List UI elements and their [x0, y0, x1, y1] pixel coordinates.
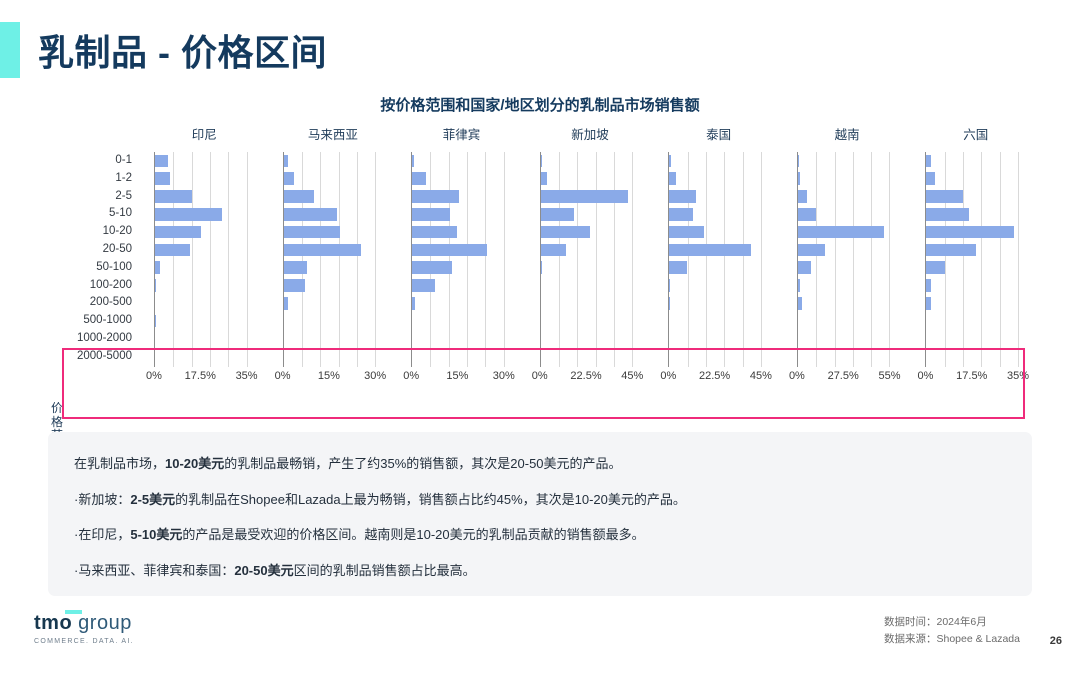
bar	[669, 279, 670, 292]
bar-row	[155, 152, 247, 170]
x-axis-ticks: 0%17.5%35%	[925, 370, 1018, 386]
x-tick-label: 22.5%	[570, 370, 601, 382]
bar	[412, 261, 452, 274]
panel-plot	[797, 152, 890, 367]
page-title: 乳制品 - 价格区间	[38, 24, 327, 76]
category-label: 50-100	[62, 259, 138, 277]
tmo-group-logo: tmogroup COMMERCE. DATA. AI.	[34, 612, 134, 645]
bar	[284, 208, 337, 221]
bar	[284, 244, 362, 257]
category-label: 2-5	[62, 188, 138, 206]
bar-row	[412, 294, 504, 312]
bar	[669, 244, 750, 257]
bar-row	[541, 223, 633, 241]
bar-row	[541, 259, 633, 277]
bar-row	[926, 188, 1018, 206]
x-tick-label: 30%	[364, 370, 386, 382]
bar	[155, 315, 156, 328]
x-tick-label: 0%	[918, 370, 934, 382]
bar	[284, 190, 315, 203]
bar-row	[412, 259, 504, 277]
bar-row	[926, 348, 1018, 366]
bar-row	[412, 312, 504, 330]
panel-title-1: 马来西亚	[269, 124, 398, 143]
category-label: 10-20	[62, 223, 138, 241]
bar-row	[284, 312, 376, 330]
bar-row	[541, 277, 633, 295]
bar-row	[798, 205, 890, 223]
x-tick-label: 0%	[532, 370, 548, 382]
bar-row	[155, 312, 247, 330]
bar	[412, 208, 450, 221]
bar	[669, 208, 692, 221]
bar	[926, 208, 969, 221]
bar-row	[541, 294, 633, 312]
bar-row	[669, 348, 761, 366]
panel-六国: 0%17.5%35%	[911, 152, 1040, 367]
x-axis-ticks: 0%15%30%	[283, 370, 376, 386]
category-label: 1000-2000	[62, 330, 138, 348]
bar	[412, 226, 457, 239]
bar	[669, 261, 686, 274]
bar-row	[284, 259, 376, 277]
bar-row	[669, 312, 761, 330]
gridline	[889, 152, 890, 367]
bar	[541, 244, 566, 257]
x-tick-label: 0%	[660, 370, 676, 382]
bar-row	[155, 348, 247, 366]
bar-row	[798, 330, 890, 348]
bar-row	[284, 277, 376, 295]
bar	[155, 261, 160, 274]
bar-row	[926, 330, 1018, 348]
bar-row	[155, 277, 247, 295]
bar	[412, 244, 486, 257]
bar-row	[669, 330, 761, 348]
bar	[669, 226, 704, 239]
bar	[926, 226, 1014, 239]
x-tick-label: 15%	[318, 370, 340, 382]
bar-row	[541, 205, 633, 223]
bar-row	[155, 170, 247, 188]
bar	[541, 261, 542, 274]
footer-meta: 数据时间：2024年6月 数据来源：Shopee & Lazada	[884, 614, 1020, 648]
bar-row	[541, 330, 633, 348]
bar-row	[155, 330, 247, 348]
bar-row	[284, 152, 376, 170]
x-tick-label: 22.5%	[699, 370, 730, 382]
bar-row	[284, 170, 376, 188]
bar-row	[284, 188, 376, 206]
panel-plot	[925, 152, 1018, 367]
bar-row	[669, 205, 761, 223]
bar-row	[541, 152, 633, 170]
bar-row	[155, 188, 247, 206]
bar	[155, 279, 156, 292]
x-tick-label: 27.5%	[828, 370, 859, 382]
data-source: 数据来源：Shopee & Lazada	[884, 631, 1020, 648]
bar	[798, 261, 811, 274]
bar-row	[669, 152, 761, 170]
panel-title-0: 印尼	[140, 124, 269, 143]
bar-row	[926, 152, 1018, 170]
bar-row	[284, 205, 376, 223]
x-tick-label: 17.5%	[185, 370, 216, 382]
bar	[669, 155, 670, 168]
gridline	[504, 152, 505, 367]
bar	[284, 297, 289, 310]
panel-plot	[411, 152, 504, 367]
bar-row	[284, 348, 376, 366]
x-tick-label: 45%	[750, 370, 772, 382]
logo-tmo: tmo	[34, 612, 72, 634]
bar-row	[926, 294, 1018, 312]
panel-越南: 0%27.5%55%	[783, 152, 912, 367]
bar	[669, 297, 670, 310]
gridline	[247, 152, 248, 367]
bar	[798, 190, 807, 203]
bar	[412, 155, 414, 168]
bar-row	[412, 223, 504, 241]
accent-bar	[0, 22, 20, 78]
bar-row	[669, 259, 761, 277]
bar-row	[926, 241, 1018, 259]
category-label: 5-10	[62, 205, 138, 223]
bar-row	[412, 241, 504, 259]
bar	[926, 279, 931, 292]
bar	[926, 155, 930, 168]
bar	[798, 172, 800, 185]
panel-新加坡: 0%22.5%45%	[526, 152, 655, 367]
bar-row	[669, 294, 761, 312]
panel-plot	[154, 152, 247, 367]
bar-row	[284, 223, 376, 241]
bar-row	[798, 277, 890, 295]
bar	[284, 155, 289, 168]
bar	[412, 190, 459, 203]
gridline	[632, 152, 633, 367]
bar	[412, 279, 435, 292]
x-axis-ticks: 0%22.5%45%	[540, 370, 633, 386]
bar	[155, 155, 168, 168]
bar-row	[412, 277, 504, 295]
bar-row	[412, 152, 504, 170]
bar-row	[669, 277, 761, 295]
bar	[669, 190, 695, 203]
notes-panel: 在乳制品市场，10-20美元的乳制品最畅销，产生了约35%的销售额，其次是20-…	[48, 432, 1032, 596]
bar-row	[541, 170, 633, 188]
logo-group: group	[78, 612, 132, 634]
note-line-0: 在乳制品市场，10-20美元的乳制品最畅销，产生了约35%的销售额，其次是20-…	[74, 454, 1006, 473]
gridline	[1018, 152, 1019, 367]
bar-row	[669, 223, 761, 241]
bar-row	[412, 330, 504, 348]
gridline	[761, 152, 762, 367]
bar	[798, 297, 802, 310]
bar	[155, 172, 170, 185]
bar-row	[412, 188, 504, 206]
note-line-1: ·新加坡：2-5美元的乳制品在Shopee和Lazada上最为畅销，销售额占比约…	[74, 490, 1006, 509]
category-label: 100-200	[62, 277, 138, 295]
bar	[541, 155, 542, 168]
bar	[798, 226, 884, 239]
panel-plot	[283, 152, 376, 367]
bar-row	[669, 188, 761, 206]
x-tick-label: 0%	[789, 370, 805, 382]
bar-row	[798, 152, 890, 170]
logo-accent-bar	[65, 610, 82, 614]
bar	[284, 261, 307, 274]
bar-row	[926, 259, 1018, 277]
panel-泰国: 0%22.5%45%	[654, 152, 783, 367]
bar	[541, 190, 629, 203]
data-time: 数据时间：2024年6月	[884, 614, 1020, 631]
note-line-2: ·在印尼，5-10美元的产品是最受欢迎的价格区间。越南则是10-20美元的乳制品…	[74, 525, 1006, 544]
x-tick-label: 35%	[236, 370, 258, 382]
panel-plot	[668, 152, 761, 367]
bar	[798, 244, 825, 257]
bar-row	[284, 241, 376, 259]
bar	[798, 208, 816, 221]
bar-row	[798, 241, 890, 259]
x-tick-label: 15%	[446, 370, 468, 382]
bar-row	[155, 205, 247, 223]
panel-title-4: 泰国	[654, 124, 783, 143]
page-footer: tmogroup COMMERCE. DATA. AI. 数据时间：2024年6…	[0, 604, 1080, 674]
bar	[155, 208, 222, 221]
bar	[669, 172, 676, 185]
panel-菲律宾: 0%15%30%	[397, 152, 526, 367]
x-tick-label: 55%	[878, 370, 900, 382]
panel-印尼: 0%17.5%35%	[140, 152, 269, 367]
page-header: 乳制品 - 价格区间	[0, 22, 327, 78]
bar-row	[926, 205, 1018, 223]
chart-area: 按价格范围和国家/地区划分的乳制品市场销售额 印尼马来西亚菲律宾新加坡泰国越南六…	[0, 92, 1080, 422]
x-tick-label: 45%	[621, 370, 643, 382]
bar	[926, 190, 963, 203]
bar-row	[541, 188, 633, 206]
bar	[926, 244, 976, 257]
bar-row	[284, 294, 376, 312]
category-label: 1-2	[62, 170, 138, 188]
x-axis-ticks: 0%17.5%35%	[154, 370, 247, 386]
bar	[926, 261, 945, 274]
bar-row	[669, 170, 761, 188]
panel-plot	[540, 152, 633, 367]
bar	[541, 226, 590, 239]
bar-row	[284, 330, 376, 348]
bar	[412, 297, 415, 310]
x-tick-label: 0%	[403, 370, 419, 382]
bar-row	[412, 348, 504, 366]
x-axis-ticks: 0%27.5%55%	[797, 370, 890, 386]
bar-row	[541, 241, 633, 259]
bar-row	[798, 223, 890, 241]
panel-title-2: 菲律宾	[397, 124, 526, 143]
bar-row	[155, 241, 247, 259]
bar	[412, 172, 426, 185]
category-label: 200-500	[62, 294, 138, 312]
bar-row	[541, 348, 633, 366]
bar-row	[155, 259, 247, 277]
bar-row	[155, 223, 247, 241]
bar	[541, 208, 575, 221]
category-label: 2000-5000	[62, 348, 138, 366]
bar	[284, 279, 305, 292]
bar-row	[926, 170, 1018, 188]
bar	[926, 297, 931, 310]
bar	[155, 226, 201, 239]
logo-tagline: COMMERCE. DATA. AI.	[34, 638, 134, 645]
x-tick-label: 0%	[146, 370, 162, 382]
panel-titles-row: 印尼马来西亚菲律宾新加坡泰国越南六国	[140, 124, 1040, 143]
bar	[155, 190, 192, 203]
bar-row	[926, 223, 1018, 241]
bar	[284, 172, 294, 185]
bar-row	[155, 294, 247, 312]
category-label: 500-1000	[62, 312, 138, 330]
bar-row	[798, 170, 890, 188]
bar-row	[412, 205, 504, 223]
panel-title-6: 六国	[911, 124, 1040, 143]
category-labels: 0-11-22-55-1010-2020-5050-100100-200200-…	[62, 152, 138, 366]
bar-row	[541, 312, 633, 330]
bar-row	[798, 312, 890, 330]
chart-title: 按价格范围和国家/地区划分的乳制品市场销售额	[0, 92, 1080, 115]
bar-row	[798, 348, 890, 366]
x-tick-label: 17.5%	[956, 370, 987, 382]
category-label: 0-1	[62, 152, 138, 170]
x-axis-ticks: 0%15%30%	[411, 370, 504, 386]
category-label: 20-50	[62, 241, 138, 259]
logo-wordmark: tmogroup	[34, 612, 132, 635]
bar-row	[798, 294, 890, 312]
x-axis-ticks: 0%22.5%45%	[668, 370, 761, 386]
panel-马来西亚: 0%15%30%	[269, 152, 398, 367]
x-tick-label: 30%	[493, 370, 515, 382]
bar	[798, 279, 800, 292]
bar	[284, 226, 340, 239]
gridline	[375, 152, 376, 367]
note-line-3: ·马来西亚、菲律宾和泰国：20-50美元区间的乳制品销售额占比最高。	[74, 561, 1006, 580]
bar-row	[926, 312, 1018, 330]
plot-wrapper: 价格范围（美元） 0-11-22-55-1010-2020-5050-10010…	[0, 152, 1080, 412]
bar	[926, 172, 935, 185]
x-tick-label: 0%	[275, 370, 291, 382]
bar-row	[798, 188, 890, 206]
panel-title-3: 新加坡	[526, 124, 655, 143]
bar-row	[926, 277, 1018, 295]
panels-grid: 0%17.5%35%0%15%30%0%15%30%0%22.5%45%0%22…	[140, 152, 1040, 367]
x-tick-label: 35%	[1007, 370, 1029, 382]
panel-title-5: 越南	[783, 124, 912, 143]
bar	[541, 172, 547, 185]
bar-row	[412, 170, 504, 188]
bar-row	[669, 241, 761, 259]
bar-row	[798, 259, 890, 277]
bar	[155, 244, 190, 257]
bar	[798, 155, 799, 168]
page-number: 26	[1050, 635, 1062, 647]
